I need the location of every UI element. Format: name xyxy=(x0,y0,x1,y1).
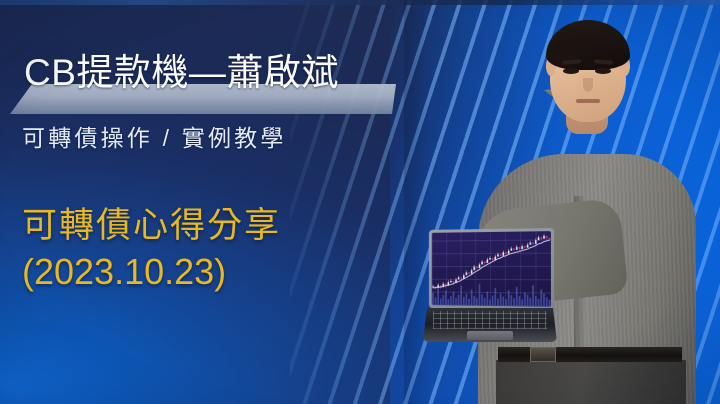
video-thumbnail: CB提款機—蕭啟斌 可轉債操作 / 實例教學 可轉債心得分享 (2023.10.… xyxy=(0,0,720,404)
text-block: CB提款機—蕭啟斌 可轉債操作 / 實例教學 可轉債心得分享 (2023.10.… xyxy=(0,0,430,404)
laptop-screen xyxy=(432,231,551,307)
presenter-mouth xyxy=(576,99,600,103)
headline-line-2: (2023.10.23) xyxy=(22,249,422,295)
presenter-hair xyxy=(546,20,630,70)
presenter-eye-left xyxy=(563,68,579,74)
headline-line-1: 可轉債心得分享 xyxy=(22,206,281,245)
laptop xyxy=(423,229,557,353)
laptop-base xyxy=(423,308,557,342)
channel-title: CB提款機—蕭啟斌 xyxy=(24,50,424,96)
presenter-nose xyxy=(583,78,593,92)
stock-chart xyxy=(432,231,551,307)
laptop-trackpad[interactable] xyxy=(467,331,513,340)
laptop-keyboard[interactable] xyxy=(433,311,547,329)
presenter-eye-right xyxy=(595,68,611,74)
channel-subtitle: 可轉債操作 / 實例教學 xyxy=(22,123,422,154)
presenter-trousers xyxy=(496,360,686,404)
laptop-lid xyxy=(429,228,554,310)
video-headline: 可轉債心得分享 (2023.10.23) xyxy=(22,203,422,295)
